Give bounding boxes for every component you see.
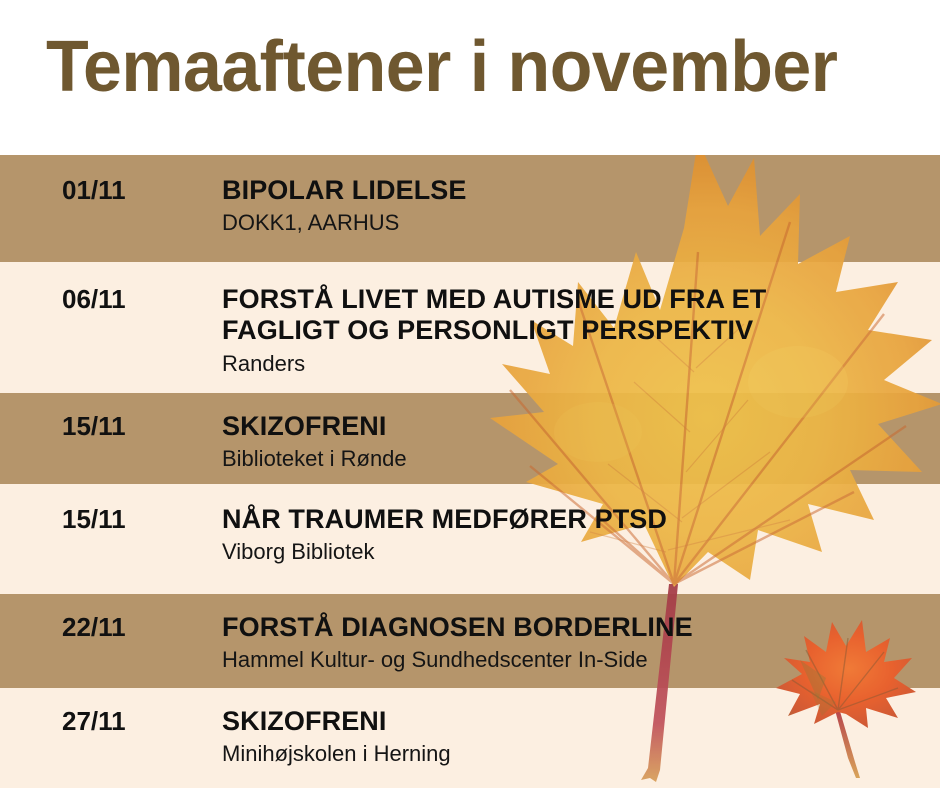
event-venue: Biblioteket i Rønde — [222, 445, 940, 474]
event-venue: DOKK1, AARHUS — [222, 209, 940, 238]
schedule-row[interactable]: 15/11NÅR TRAUMER MEDFØRER PTSDViborg Bib… — [0, 504, 940, 567]
event-venue: Minihøjskolen i Herning — [222, 740, 940, 769]
event-title: FORSTÅ LIVET MED AUTISME UD FRA ET FAGLI… — [222, 284, 940, 347]
event-title: NÅR TRAUMER MEDFØRER PTSD — [222, 504, 940, 535]
schedule-row[interactable]: 22/11FORSTÅ DIAGNOSEN BORDERLINEHammel K… — [0, 612, 940, 675]
title-area: Temaaftener i november — [0, 0, 940, 155]
page-title: Temaaftener i november — [46, 26, 837, 108]
event-title: SKIZOFRENI — [222, 706, 940, 737]
event-date: 01/11 — [0, 175, 222, 206]
event-details: SKIZOFRENIBiblioteket i Rønde — [222, 411, 940, 474]
event-venue: Hammel Kultur- og Sundhedscenter In-Side — [222, 646, 940, 675]
schedule-row[interactable]: 15/11SKIZOFRENIBiblioteket i Rønde — [0, 411, 940, 474]
event-title: BIPOLAR LIDELSE — [222, 175, 940, 206]
event-title: FORSTÅ DIAGNOSEN BORDERLINE — [222, 612, 940, 643]
event-details: FORSTÅ LIVET MED AUTISME UD FRA ET FAGLI… — [222, 284, 940, 378]
event-date: 22/11 — [0, 612, 222, 643]
event-details: BIPOLAR LIDELSEDOKK1, AARHUS — [222, 175, 940, 238]
event-details: FORSTÅ DIAGNOSEN BORDERLINEHammel Kultur… — [222, 612, 940, 675]
event-date: 06/11 — [0, 284, 222, 315]
event-date: 27/11 — [0, 706, 222, 737]
event-details: NÅR TRAUMER MEDFØRER PTSDViborg Bibliote… — [222, 504, 940, 567]
schedule-row[interactable]: 06/11FORSTÅ LIVET MED AUTISME UD FRA ET … — [0, 284, 940, 378]
event-title: SKIZOFRENI — [222, 411, 940, 442]
event-venue: Viborg Bibliotek — [222, 538, 940, 567]
schedule-row[interactable]: 01/11BIPOLAR LIDELSEDOKK1, AARHUS — [0, 175, 940, 238]
event-date: 15/11 — [0, 504, 222, 535]
event-details: SKIZOFRENIMinihøjskolen i Herning — [222, 706, 940, 769]
event-venue: Randers — [222, 350, 940, 379]
poster-canvas: Temaaftener i november 01/11BIPOLAR LIDE… — [0, 0, 940, 788]
event-date: 15/11 — [0, 411, 222, 442]
schedule-row[interactable]: 27/11SKIZOFRENIMinihøjskolen i Herning — [0, 706, 940, 769]
